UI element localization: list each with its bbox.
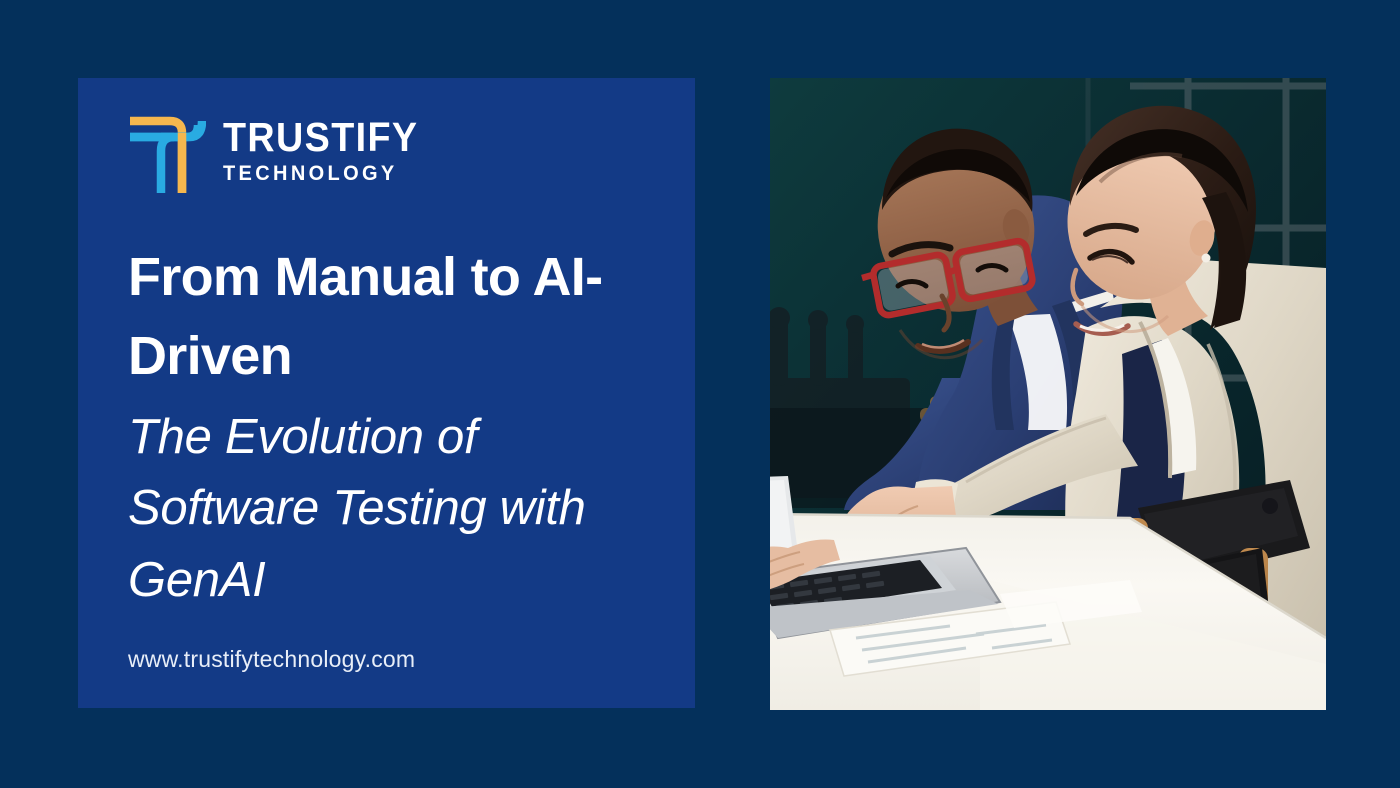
- social-card: TRUSTIFY TECHNOLOGY From Manual to AI-Dr…: [0, 0, 1400, 788]
- text-panel: TRUSTIFY TECHNOLOGY From Manual to AI-Dr…: [78, 78, 695, 708]
- brand-wordmark: TRUSTIFY TECHNOLOGY: [223, 117, 435, 190]
- headline: From Manual to AI-Driven: [128, 238, 628, 396]
- brand-tagline: TECHNOLOGY: [223, 158, 421, 189]
- brand-logo[interactable]: TRUSTIFY TECHNOLOGY: [128, 108, 665, 200]
- hero-photo: [770, 78, 1326, 710]
- panel-content: TRUSTIFY TECHNOLOGY From Manual to AI-Dr…: [128, 108, 665, 673]
- subheadline: The Evolution of Software Testing with G…: [128, 402, 628, 617]
- website-url[interactable]: www.trustifytechnology.com: [128, 646, 665, 673]
- brand-name: TRUSTIFY: [223, 117, 418, 157]
- trustify-double-t-mark-icon: [128, 113, 206, 195]
